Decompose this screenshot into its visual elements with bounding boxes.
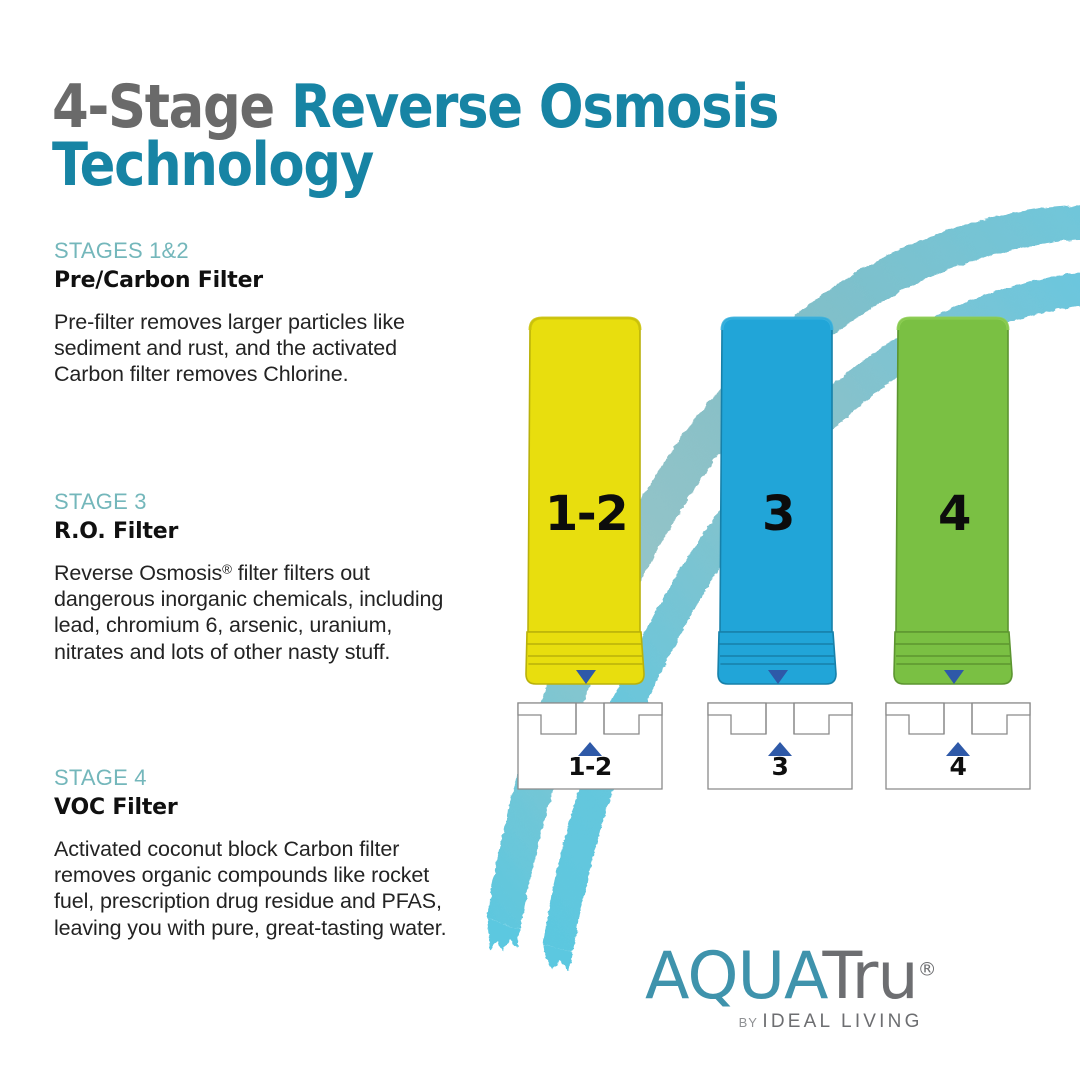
aquatru-logo: AQUATru® BY IDEAL LIVING xyxy=(645,944,937,1033)
logo-tru: Tru xyxy=(822,939,917,1014)
stage-label: STAGES 1&2 xyxy=(54,238,454,264)
cartridge-number-4: 4 xyxy=(884,486,1024,542)
section-stage-4: STAGE 4 VOC Filter Activated coconut blo… xyxy=(54,765,454,941)
logo-tagline: BY IDEAL LIVING xyxy=(645,1011,937,1033)
stage-body: Reverse Osmosis® filter filters out dang… xyxy=(54,560,454,665)
registered-trademark-icon: ® xyxy=(918,958,937,980)
logo-wordmark: AQUATru® xyxy=(645,944,937,1009)
cartridge-number-1-2: 1-2 xyxy=(516,486,656,542)
registered-mark: ® xyxy=(222,561,232,576)
logo-ideal-living: IDEAL LIVING xyxy=(762,1011,922,1032)
stage-title: VOC Filter xyxy=(54,794,454,822)
stage-label: STAGE 4 xyxy=(54,765,454,791)
logo-aqua: AQUA xyxy=(645,939,822,1014)
stage-title: Pre/Carbon Filter xyxy=(54,267,454,295)
stage-body: Pre-filter removes larger particles like… xyxy=(54,309,454,388)
stage-title: R.O. Filter xyxy=(54,518,454,546)
base-number-4: 4 xyxy=(881,752,1035,781)
stage-body: Activated coconut block Carbon filter re… xyxy=(54,836,454,941)
stage-body-pre: Reverse Osmosis xyxy=(54,561,222,585)
cartridge-number-3: 3 xyxy=(708,486,848,542)
base-number-3: 3 xyxy=(703,752,857,781)
section-stages-1-2: STAGES 1&2 Pre/Carbon Filter Pre-filter … xyxy=(54,238,454,388)
infographic-canvas: 4-Stage Reverse Osmosis Technology STAGE… xyxy=(0,0,1080,1080)
stage-label: STAGE 3 xyxy=(54,489,454,515)
base-number-1-2: 1-2 xyxy=(513,752,667,781)
section-stage-3: STAGE 3 R.O. Filter Reverse Osmosis® fil… xyxy=(54,489,454,665)
logo-by: BY xyxy=(739,1015,758,1030)
page-title: 4-Stage Reverse Osmosis Technology xyxy=(52,78,844,194)
